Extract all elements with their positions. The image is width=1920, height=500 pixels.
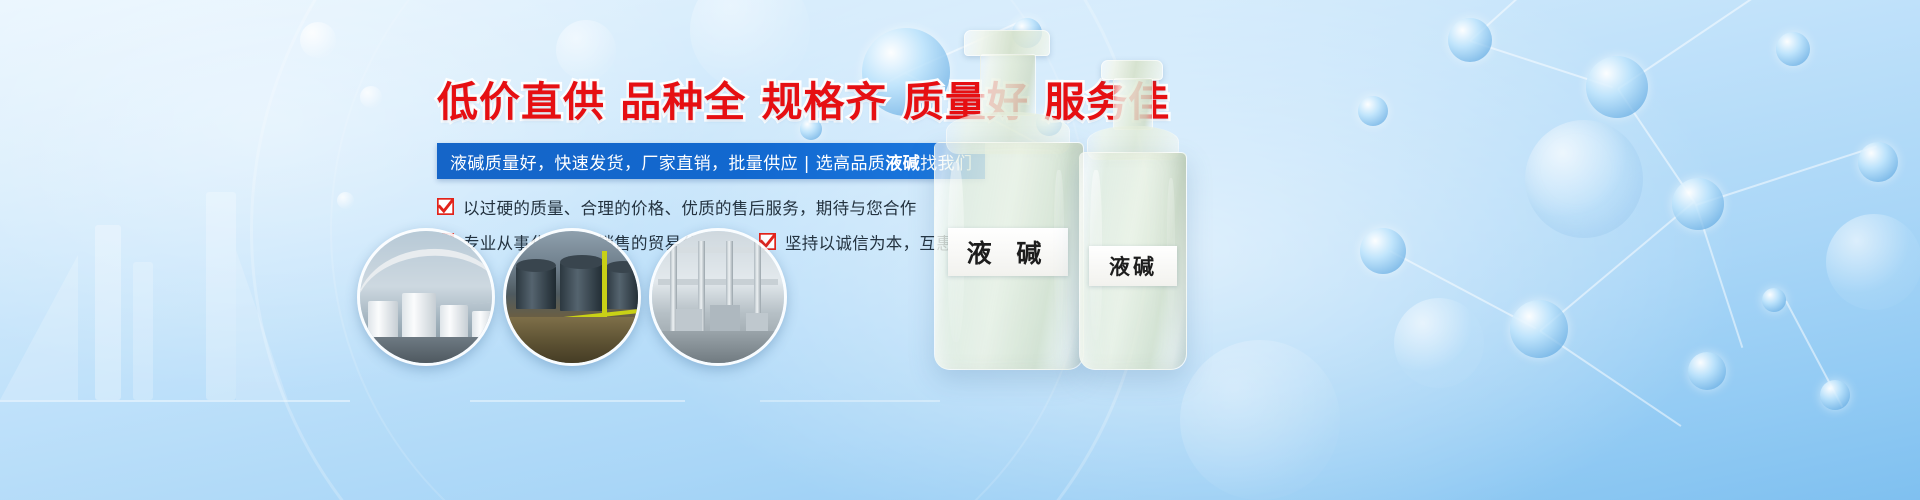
bottle-neck bbox=[980, 54, 1036, 116]
molecule-node bbox=[1358, 96, 1388, 126]
promo-banner: 低价直供 品种全 规格齐 质量好 服务佳 液碱质量好，快速发货，厂家直销，批量供… bbox=[0, 0, 1920, 500]
molecule-bond bbox=[1469, 0, 1571, 42]
molecule-bond bbox=[1617, 88, 1697, 205]
list-item: 以过硬的质量、合理的价格、优质的售后服务，期待与您合作 bbox=[437, 195, 917, 219]
molecule-bond bbox=[1470, 40, 1613, 88]
molecule-bond bbox=[1539, 330, 1681, 427]
bottle-stopper bbox=[964, 30, 1050, 56]
molecule-node bbox=[1360, 228, 1406, 274]
molecule-bond bbox=[1617, 0, 1755, 90]
bottle-neck bbox=[1113, 78, 1153, 130]
molecule-node bbox=[1672, 178, 1724, 230]
photo-image bbox=[360, 231, 492, 363]
photo-warehouse bbox=[649, 228, 787, 366]
molecule-node bbox=[1510, 300, 1568, 358]
photo-chemical-plant bbox=[503, 228, 641, 366]
molecule-node bbox=[1820, 380, 1850, 410]
photo-image bbox=[506, 231, 638, 363]
deco-bubble bbox=[1394, 298, 1484, 388]
bottle-label-text: 液碱 bbox=[1109, 251, 1157, 281]
subtitle-bar: 液碱质量好，快速发货，厂家直销，批量供应 | 选高品质液碱找我们 bbox=[437, 143, 985, 179]
molecule-bond bbox=[1696, 145, 1877, 206]
bottle-label: 液 碱 bbox=[948, 228, 1068, 276]
banner-content: 低价直供 品种全 规格齐 质量好 服务佳 液碱质量好，快速发货，厂家直销，批量供… bbox=[0, 0, 1000, 500]
check-icon bbox=[437, 198, 454, 215]
deco-bubble bbox=[1525, 120, 1643, 238]
list-item-label: 以过硬的质量、合理的价格、优质的售后服务，期待与您合作 bbox=[463, 195, 917, 219]
subtitle-highlight: 液碱 bbox=[885, 149, 920, 174]
molecule-node bbox=[1586, 56, 1648, 118]
deco-bubble bbox=[1826, 214, 1920, 310]
molecule-node bbox=[1762, 288, 1786, 312]
bottle-small: 液碱 bbox=[1075, 60, 1225, 380]
photo-tank-farm bbox=[357, 228, 495, 366]
bottle-stopper bbox=[1101, 60, 1163, 80]
molecule-node bbox=[1448, 18, 1492, 62]
photo-image bbox=[652, 231, 784, 363]
subtitle-text-before: 液碱质量好，快速发货，厂家直销，批量供应 | 选高品质 bbox=[450, 149, 885, 174]
molecule-bond bbox=[1695, 205, 1743, 348]
bottle-label-text: 液 碱 bbox=[967, 234, 1050, 270]
molecule-node bbox=[1688, 352, 1726, 390]
molecule-node bbox=[1858, 142, 1898, 182]
molecule-bond bbox=[1390, 250, 1537, 329]
molecule-node bbox=[1776, 32, 1810, 66]
molecule-bond bbox=[1785, 301, 1843, 408]
molecule-bond bbox=[1539, 202, 1693, 332]
bottle-label: 液碱 bbox=[1089, 246, 1177, 286]
